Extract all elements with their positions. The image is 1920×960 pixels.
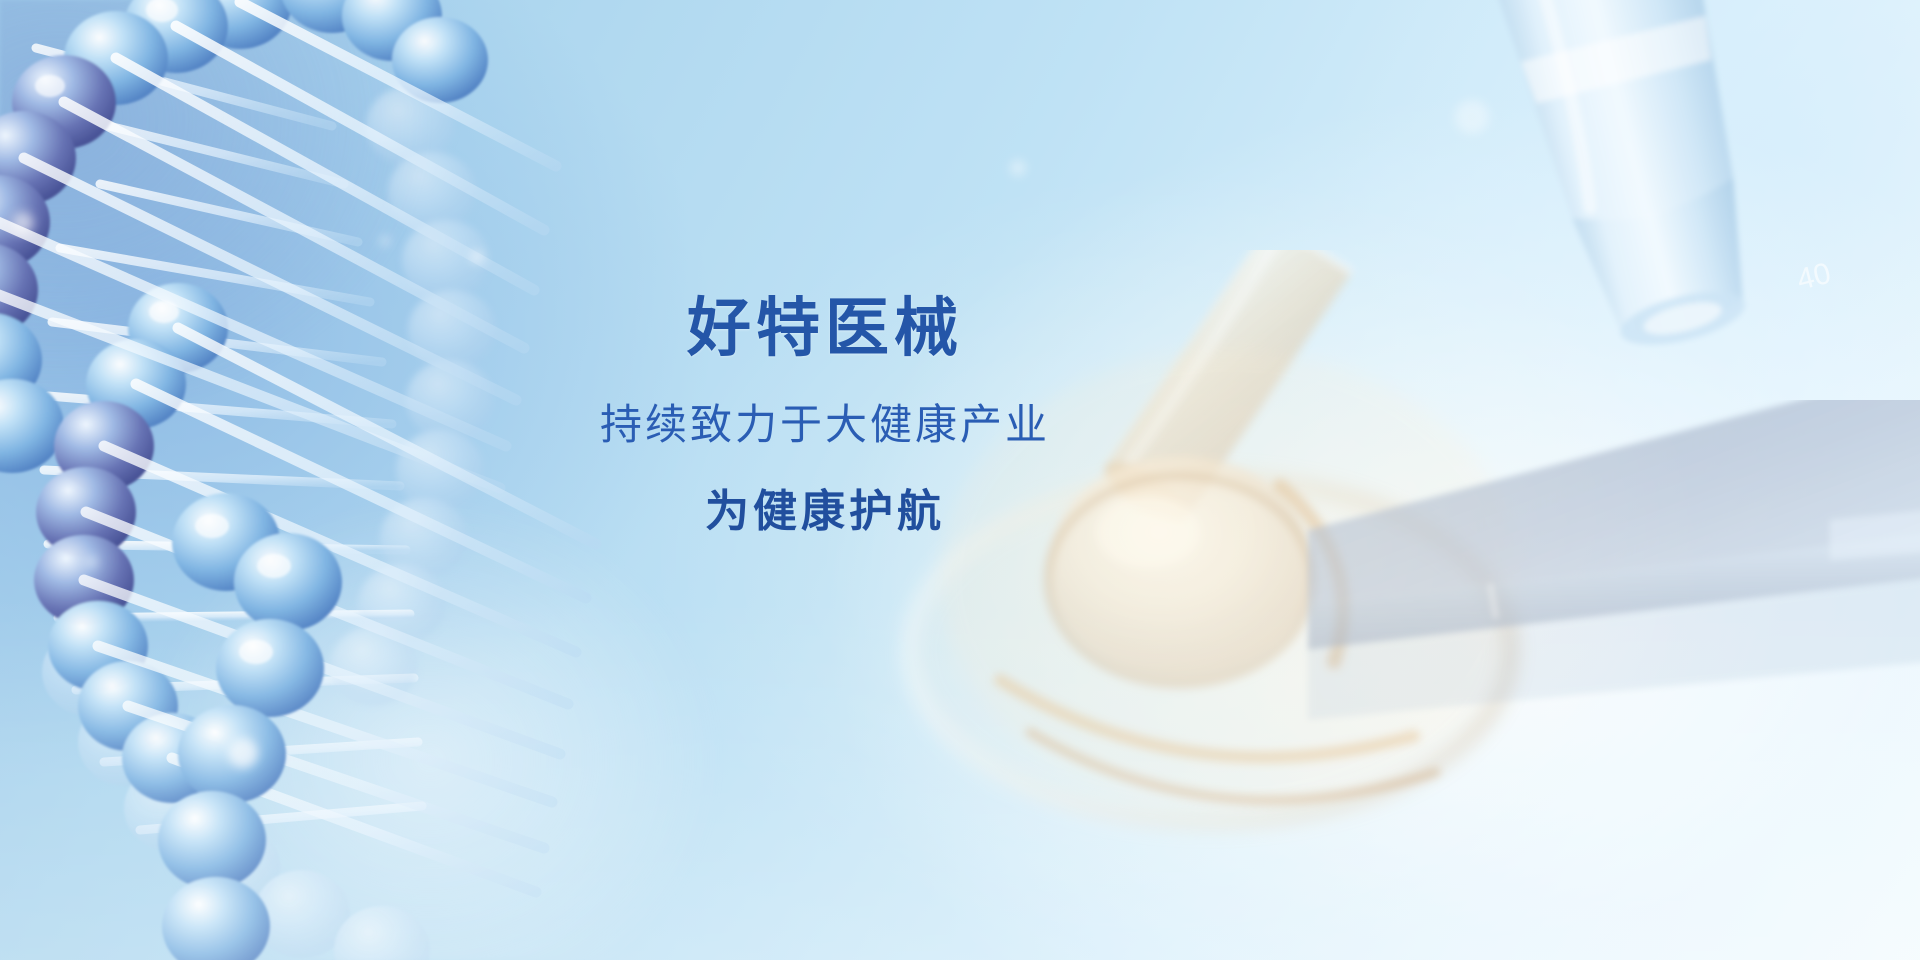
page-tagline: 为健康护航 — [600, 490, 1050, 534]
page-title: 好特医械 — [600, 296, 1050, 360]
page-subtitle: 持续致力于大健康产业 — [600, 404, 1050, 446]
hero-copy-block: 好特医械 持续致力于大健康产业 为健康护航 — [0, 0, 1920, 960]
hero-banner: 40 — [0, 0, 1920, 960]
